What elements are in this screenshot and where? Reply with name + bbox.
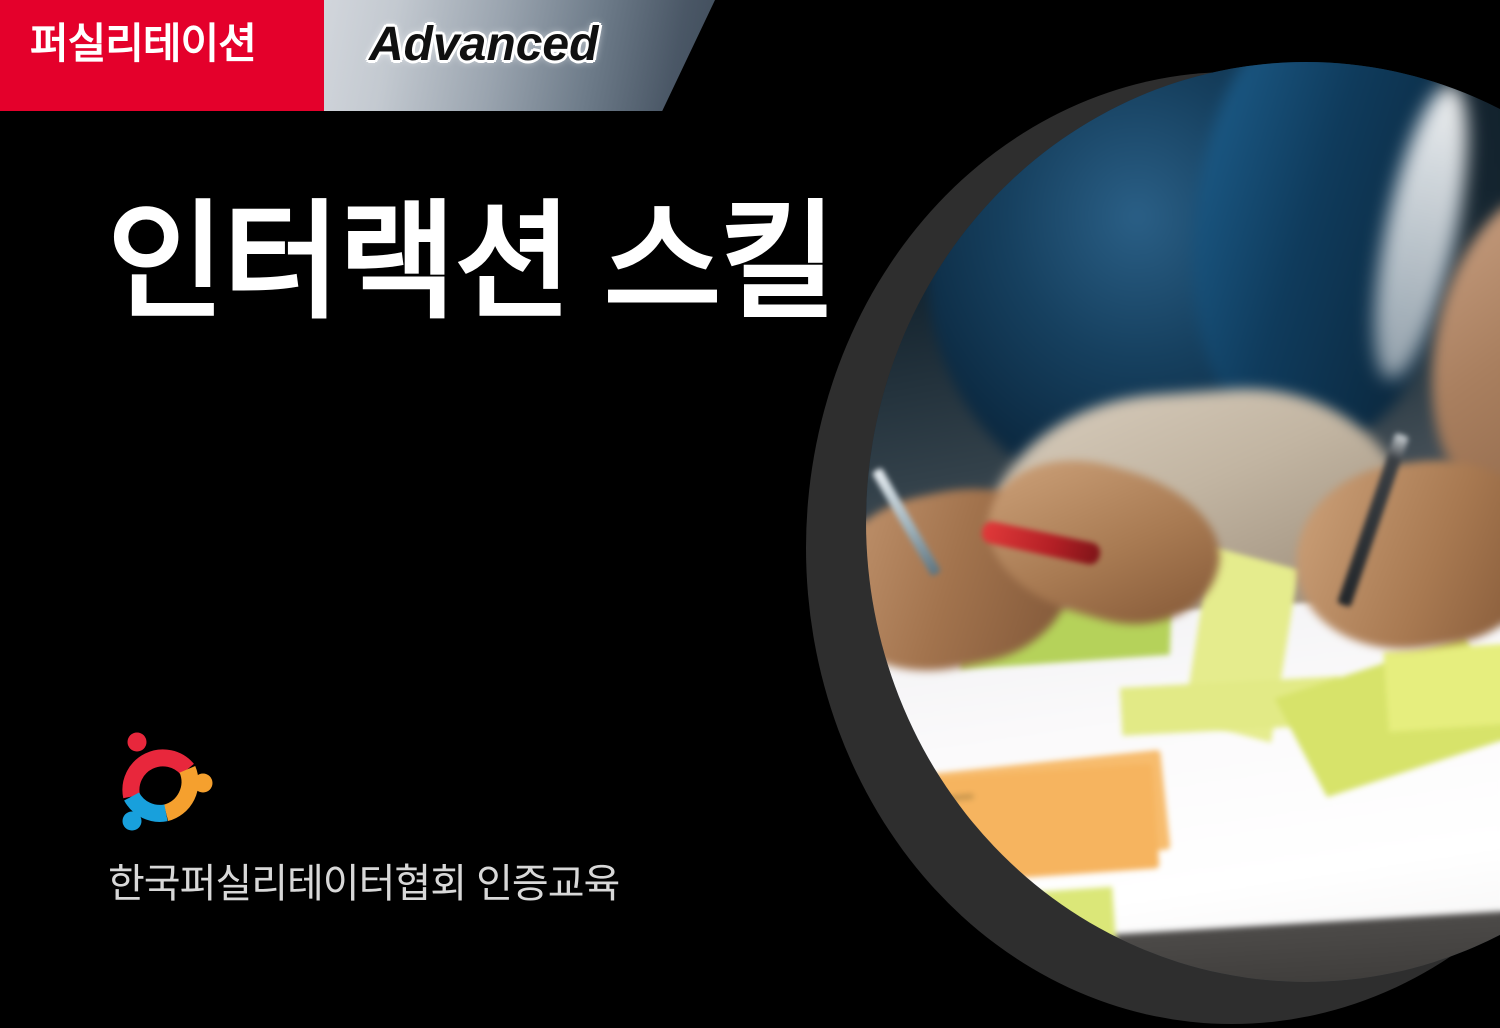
slide-root: ≈≈≈≈≈ ㄱ ㄴ ㅣㄱ 퍼실리테이션 Advanced 인터랙션 스킬 <box>0 0 1500 1028</box>
photo-soft-focus <box>866 62 1500 982</box>
page-title: 인터랙션 스킬 <box>107 196 835 330</box>
header-banner: 퍼실리테이션 Advanced <box>0 0 715 111</box>
banner-category-label: 퍼실리테이션 <box>30 23 256 65</box>
banner-level-label: Advanced <box>369 21 598 69</box>
logo-dot-red <box>128 733 147 752</box>
logo-dot-orange <box>194 774 213 793</box>
logo-dot-blue <box>123 812 142 831</box>
organization-subtitle: 한국퍼실리테이터협회 인증교육 <box>108 864 619 904</box>
organization-logo <box>108 726 218 836</box>
photo-content: ≈≈≈≈≈ ㄱ ㄴ ㅣㄱ <box>866 62 1500 982</box>
kfa-circle-logo-icon <box>108 726 218 836</box>
workshop-photo: ≈≈≈≈≈ ㄱ ㄴ ㅣㄱ <box>866 62 1500 982</box>
